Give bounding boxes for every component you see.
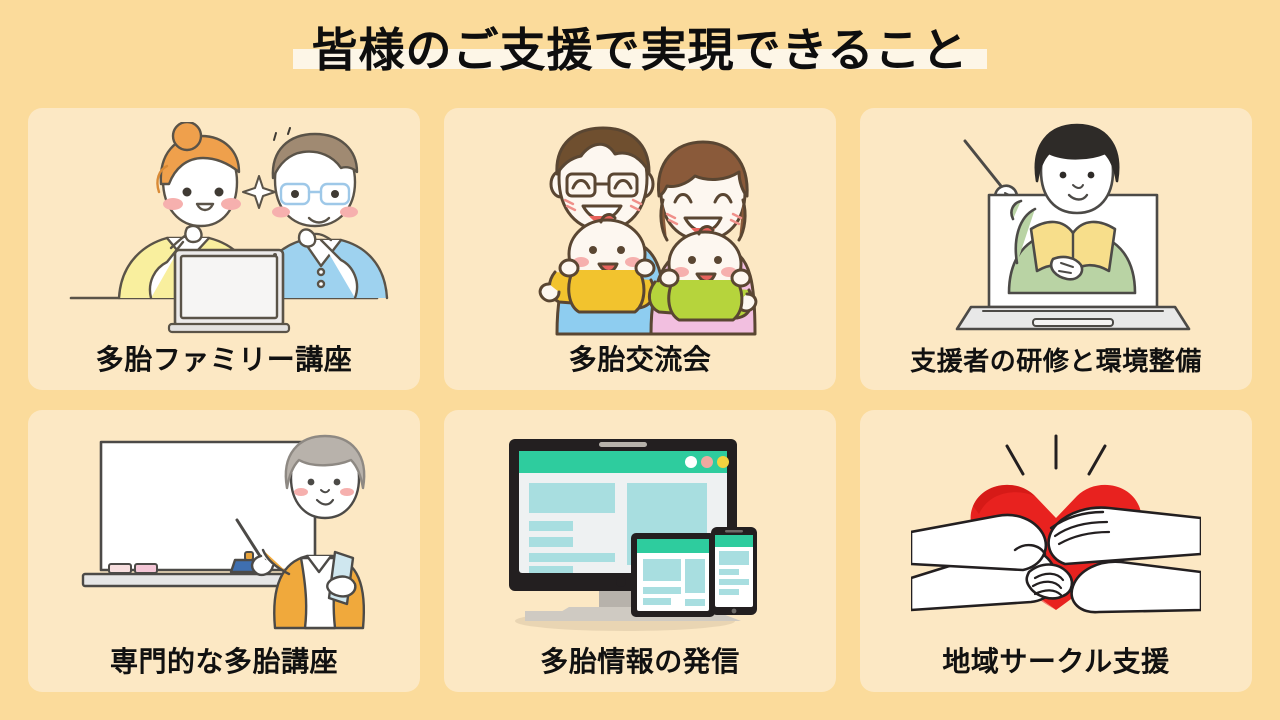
card-label: 多胎情報の発信: [540, 647, 740, 692]
card-label: 支援者の研修と環境整備: [910, 347, 1202, 390]
card-label: 地域サークル支援: [942, 647, 1169, 692]
card-specialized-tatai-lecture[interactable]: 専門的な多胎講座: [28, 410, 420, 692]
whiteboard-teacher-illustration: [28, 410, 420, 647]
card-label: 専門的な多胎講座: [110, 647, 338, 692]
card-community-circle-support[interactable]: 地域サークル支援: [860, 410, 1252, 692]
card-supporter-training[interactable]: 支援者の研修と環境整備: [860, 108, 1252, 390]
hands-on-heart-illustration: [860, 410, 1252, 647]
parents-with-twin-babies-illustration: [444, 108, 836, 345]
card-label: 多胎ファミリー講座: [96, 345, 353, 390]
card-label: 多胎交流会: [569, 345, 712, 390]
card-tatai-family-lecture[interactable]: 多胎ファミリー講座: [28, 108, 420, 390]
card-tatai-exchange-meeting[interactable]: 多胎交流会: [444, 108, 836, 390]
page-title: 皆様のご支援で実現できること: [311, 27, 968, 73]
multi-device-website-illustration: [444, 410, 836, 647]
card-tatai-information-delivery[interactable]: 多胎情報の発信: [444, 410, 836, 692]
support-items-grid: 多胎ファミリー講座: [28, 108, 1252, 692]
page-header: 皆様のご支援で実現できること: [0, 0, 1280, 100]
online-lecturer-laptop-illustration: [860, 108, 1252, 347]
family-laptop-illustration: [28, 108, 420, 345]
